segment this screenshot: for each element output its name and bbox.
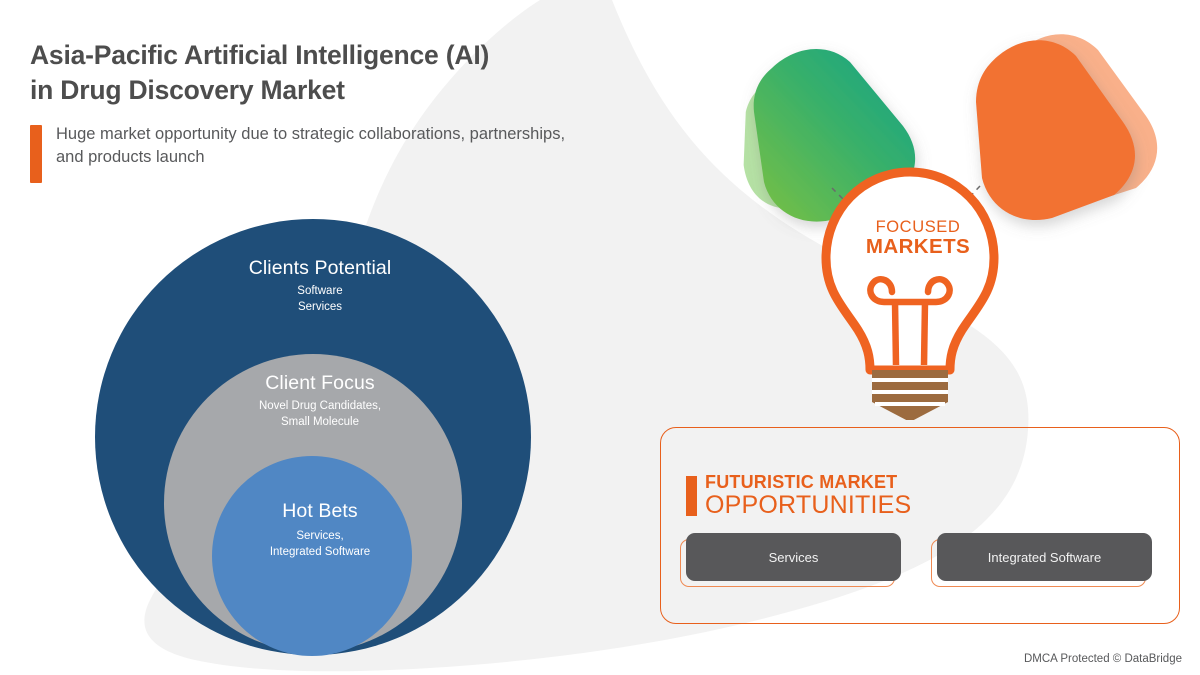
middle-circle-label: Client Focus Novel Drug Candidates, Smal…: [160, 372, 480, 431]
inner-circle-title: Hot Bets: [160, 500, 480, 523]
futuristic-opportunities-card: FUTURISTIC MARKET OPPORTUNITIES Services…: [660, 427, 1180, 624]
inner-item-1: Integrated Software: [160, 545, 480, 561]
filament-stem-right: [924, 302, 925, 365]
focused-markets-label: FOCUSED MARKETS: [838, 218, 998, 259]
futuristic-heading-line1: FUTURISTIC MARKET: [705, 473, 911, 491]
middle-item-1: Small Molecule: [160, 415, 480, 431]
services-button[interactable]: Services: [686, 533, 901, 581]
middle-item-0: Novel Drug Candidates,: [160, 399, 480, 415]
subtitle-row: Huge market opportunity due to strategic…: [30, 123, 570, 183]
page-title-line1: Asia-Pacific Artificial Intelligence (AI…: [30, 40, 489, 70]
inner-circle-items: Services, Integrated Software: [160, 529, 480, 561]
focused-markets-line2: MARKETS: [838, 235, 998, 259]
outer-item-0: Software: [160, 284, 480, 300]
lightbulb-outline-icon: [826, 172, 994, 370]
headline-block: Asia-Pacific Artificial Intelligence (AI…: [30, 38, 570, 183]
small-molecule-blob[interactable]: [976, 40, 1135, 220]
middle-circle-items: Novel Drug Candidates, Small Molecule: [160, 399, 480, 431]
opportunity-button-integrated-wrap: Integrated Software: [937, 533, 1152, 581]
lightbulb-base-icon: [872, 370, 948, 420]
infographic-canvas: Asia-Pacific Artificial Intelligence (AI…: [0, 0, 1200, 675]
futuristic-heading: FUTURISTIC MARKET OPPORTUNITIES: [686, 473, 911, 518]
outer-circle-items: Software Services: [160, 284, 480, 316]
opportunity-buttons: Services Integrated Software: [686, 533, 1152, 581]
middle-circle-title: Client Focus: [160, 372, 480, 395]
inner-item-0: Services,: [160, 529, 480, 545]
integrated-software-button[interactable]: Integrated Software: [937, 533, 1152, 581]
outer-item-1: Services: [160, 300, 480, 316]
futuristic-heading-line2: OPPORTUNITIES: [705, 492, 911, 518]
accent-bar: [30, 125, 42, 183]
outer-circle-label: Clients Potential Software Services: [160, 257, 480, 316]
filament-stem-left: [895, 302, 896, 365]
opportunity-button-services-wrap: Services: [686, 533, 901, 581]
outer-circle-title: Clients Potential: [160, 257, 480, 280]
page-title: Asia-Pacific Artificial Intelligence (AI…: [30, 38, 570, 108]
page-title-line2: in Drug Discovery Market: [30, 75, 345, 105]
page-subtitle: Huge market opportunity due to strategic…: [56, 123, 570, 170]
inner-circle-label: Hot Bets Services, Integrated Software: [160, 500, 480, 561]
footer-credit: DMCA Protected © DataBridge: [1024, 653, 1182, 665]
futuristic-accent-bar: [686, 476, 697, 516]
